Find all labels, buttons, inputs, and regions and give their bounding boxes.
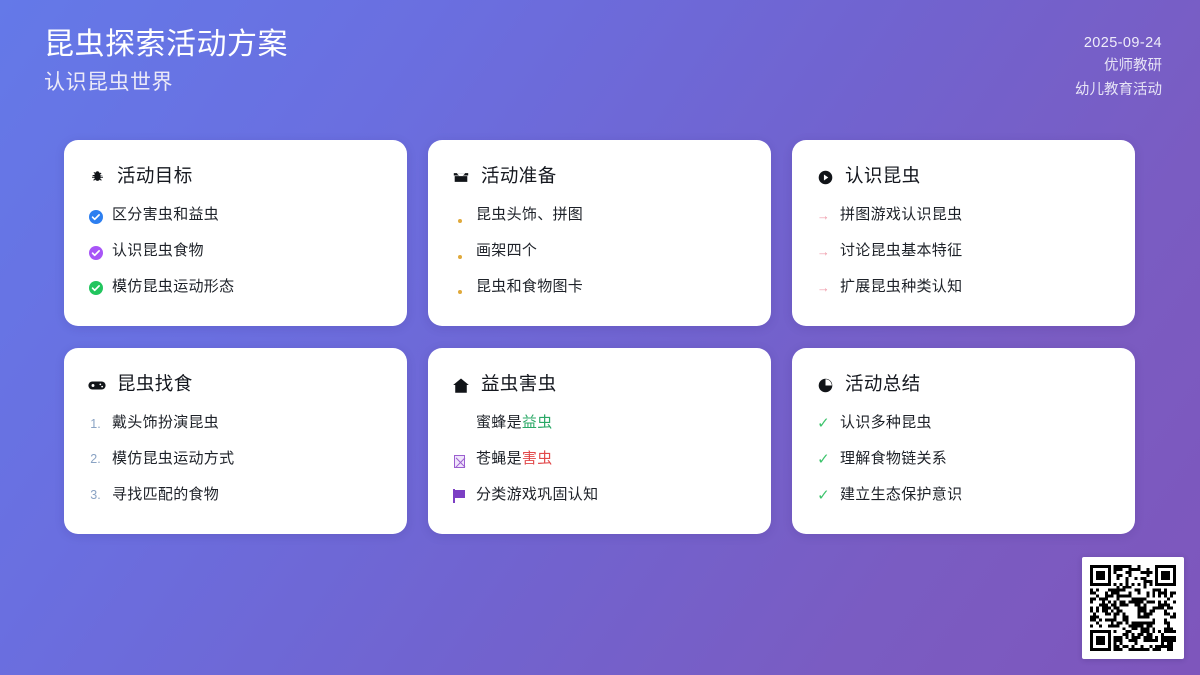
bug-icon xyxy=(88,168,106,186)
card-item-list: 1. 戴头饰扮演昆虫 2. 模仿昆虫运动方式 3. 寻找匹配的食物 xyxy=(88,414,383,503)
meta-date: 2025-09-24 xyxy=(1075,32,1162,55)
no-bullet xyxy=(452,414,467,431)
list-item-label: 认识昆虫食物 xyxy=(112,242,383,260)
card-title: 益虫害虫 xyxy=(481,374,557,396)
play-circle-icon xyxy=(816,168,834,186)
card-title: 活动目标 xyxy=(117,166,193,188)
dot-bullet-icon xyxy=(452,278,467,295)
list-item: 模仿昆虫运动形态 xyxy=(88,278,383,296)
slide-header: 昆虫探索活动方案 认识昆虫世界 2025-09-24 优师教研 幼儿教育活动 xyxy=(0,0,1200,128)
card-item-list: 昆虫头饰、拼图 画架四个 昆虫和食物图卡 xyxy=(452,206,747,295)
list-item: 区分害虫和益虫 xyxy=(88,206,383,224)
list-item-label: 画架四个 xyxy=(476,242,747,260)
list-item-text: 苍蝇是 xyxy=(476,450,522,467)
list-item: 画架四个 xyxy=(452,242,747,260)
list-item: → 讨论昆虫基本特征 xyxy=(816,242,1111,260)
list-item: ✓ 理解食物链关系 xyxy=(816,450,1111,468)
card-title: 昆虫找食 xyxy=(117,374,193,396)
card-header: 活动目标 xyxy=(88,166,383,188)
list-item-label: 戴头饰扮演昆虫 xyxy=(112,414,383,432)
list-item-label: 昆虫头饰、拼图 xyxy=(476,206,747,224)
home-icon xyxy=(452,376,470,394)
arrow-bullet-icon: → xyxy=(816,206,831,223)
list-item-label: 理解食物链关系 xyxy=(840,450,1111,468)
card-title: 活动总结 xyxy=(845,374,921,396)
list-item: 昆虫和食物图卡 xyxy=(452,278,747,296)
card-activity-summary[interactable]: 活动总结 ✓ 认识多种昆虫 ✓ 理解食物链关系 ✓ 建立生态保护意识 xyxy=(792,348,1135,534)
card-item-list: ✓ 认识多种昆虫 ✓ 理解食物链关系 ✓ 建立生态保护意识 xyxy=(816,414,1111,503)
check-circle-icon xyxy=(88,206,103,223)
pie-chart-icon xyxy=(816,376,834,394)
list-item: 分类游戏巩固认知 xyxy=(452,486,747,504)
card-beneficial-vs-pest[interactable]: 益虫害虫 蜜蜂是益虫 苍蝇是害虫 分类游戏巩固认知 xyxy=(428,348,771,534)
list-item-label: 认识多种昆虫 xyxy=(840,414,1111,432)
qr-code xyxy=(1090,565,1176,651)
list-item: ✓ 认识多种昆虫 xyxy=(816,414,1111,432)
list-item-text: 蜜蜂是 xyxy=(476,414,522,431)
list-item: 蜜蜂是益虫 xyxy=(452,414,747,432)
list-item-label: 苍蝇是害虫 xyxy=(476,450,747,468)
check-icon: ✓ xyxy=(816,414,831,431)
list-item-label: 模仿昆虫运动形态 xyxy=(112,278,383,296)
card-item-list: 蜜蜂是益虫 苍蝇是害虫 分类游戏巩固认知 xyxy=(452,414,747,503)
list-item-label: 区分害虫和益虫 xyxy=(112,206,383,224)
card-activity-preparation[interactable]: 活动准备 昆虫头饰、拼图 画架四个 昆虫和食物图卡 xyxy=(428,140,771,326)
card-header: 认识昆虫 xyxy=(816,166,1111,188)
dot-bullet-icon xyxy=(452,206,467,223)
missing-glyph-icon xyxy=(452,450,467,467)
list-item-label: 分类游戏巩固认知 xyxy=(476,486,747,504)
card-item-list: → 拼图游戏认识昆虫 → 讨论昆虫基本特征 → 扩展昆虫种类认知 xyxy=(816,206,1111,295)
card-header: 活动准备 xyxy=(452,166,747,188)
list-item-label: 拼图游戏认识昆虫 xyxy=(840,206,1111,224)
list-item-label: 昆虫和食物图卡 xyxy=(476,278,747,296)
check-circle-icon xyxy=(88,278,103,295)
header-title-block: 昆虫探索活动方案 认识昆虫世界 xyxy=(44,26,288,96)
list-item: ✓ 建立生态保护意识 xyxy=(816,486,1111,504)
supply-box-icon xyxy=(452,168,470,186)
card-title: 活动准备 xyxy=(481,166,557,188)
flag-icon xyxy=(452,486,467,503)
list-item: 3. 寻找匹配的食物 xyxy=(88,486,383,504)
arrow-bullet-icon: → xyxy=(816,242,831,259)
list-item-label: 寻找匹配的食物 xyxy=(112,486,383,504)
list-item: 认识昆虫食物 xyxy=(88,242,383,260)
number-bullet: 2. xyxy=(88,450,103,467)
list-item-label: 蜜蜂是益虫 xyxy=(476,414,747,432)
card-header: 活动总结 xyxy=(816,374,1111,396)
qr-code-panel[interactable] xyxy=(1082,557,1184,659)
number-bullet: 1. xyxy=(88,414,103,431)
check-icon: ✓ xyxy=(816,486,831,503)
list-item-label: 扩展昆虫种类认知 xyxy=(840,278,1111,296)
list-item: 1. 戴头饰扮演昆虫 xyxy=(88,414,383,432)
list-item: 昆虫头饰、拼图 xyxy=(452,206,747,224)
list-item-label: 讨论昆虫基本特征 xyxy=(840,242,1111,260)
highlight-beneficial: 益虫 xyxy=(522,414,553,431)
list-item-label: 建立生态保护意识 xyxy=(840,486,1111,504)
list-item-label: 模仿昆虫运动方式 xyxy=(112,450,383,468)
page-subtitle: 认识昆虫世界 xyxy=(44,69,288,96)
card-header: 益虫害虫 xyxy=(452,374,747,396)
list-item: 苍蝇是害虫 xyxy=(452,450,747,468)
number-bullet: 3. xyxy=(88,486,103,503)
header-meta: 2025-09-24 优师教研 幼儿教育活动 xyxy=(1075,32,1162,102)
card-insect-foraging[interactable]: 昆虫找食 1. 戴头饰扮演昆虫 2. 模仿昆虫运动方式 3. 寻找匹配的食物 xyxy=(64,348,407,534)
dot-bullet-icon xyxy=(452,242,467,259)
card-header: 昆虫找食 xyxy=(88,374,383,396)
list-item: → 拼图游戏认识昆虫 xyxy=(816,206,1111,224)
card-know-insects[interactable]: 认识昆虫 → 拼图游戏认识昆虫 → 讨论昆虫基本特征 → 扩展昆虫种类认知 xyxy=(792,140,1135,326)
gamepad-icon xyxy=(88,376,106,394)
card-title: 认识昆虫 xyxy=(845,166,921,188)
check-circle-icon xyxy=(88,242,103,259)
list-item: → 扩展昆虫种类认知 xyxy=(816,278,1111,296)
meta-organization: 优师教研 xyxy=(1075,55,1162,78)
arrow-bullet-icon: → xyxy=(816,278,831,295)
page-title: 昆虫探索活动方案 xyxy=(44,26,288,64)
highlight-pest: 害虫 xyxy=(522,450,553,467)
check-icon: ✓ xyxy=(816,450,831,467)
card-item-list: 区分害虫和益虫 认识昆虫食物 模仿昆虫运动形态 xyxy=(88,206,383,295)
list-item: 2. 模仿昆虫运动方式 xyxy=(88,450,383,468)
card-grid: 活动目标 区分害虫和益虫 认识昆虫食物 xyxy=(64,140,1137,534)
meta-category: 幼儿教育活动 xyxy=(1075,79,1162,102)
card-activity-goals[interactable]: 活动目标 区分害虫和益虫 认识昆虫食物 xyxy=(64,140,407,326)
